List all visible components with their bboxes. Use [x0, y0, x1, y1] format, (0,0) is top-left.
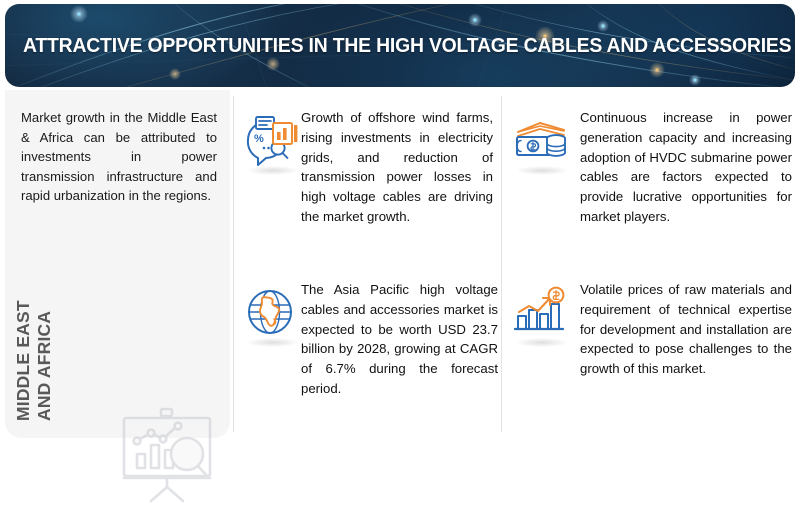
left-region-panel: Market growth in the Middle East & Afric… — [5, 90, 230, 438]
icon-shadow — [516, 338, 568, 347]
left-panel-paragraph: Market growth in the Middle East & Afric… — [21, 108, 217, 206]
column-divider-right — [501, 96, 502, 432]
insight-block-text: The Asia Pacific high voltage cables and… — [301, 280, 498, 399]
cash-coins-money-icon — [512, 112, 570, 170]
infographic-root: ATTRACTIVE OPPORTUNITIES IN THE HIGH VOL… — [0, 0, 800, 441]
svg-text:%: % — [254, 133, 264, 145]
header-banner: ATTRACTIVE OPPORTUNITIES IN THE HIGH VOL… — [5, 4, 795, 87]
analytics-percent-bars-icon: % — [243, 112, 301, 170]
column-divider-left — [233, 96, 234, 432]
bar-chart-growth-dollar-icon — [512, 284, 570, 342]
icon-shadow — [247, 166, 299, 175]
icon-shadow — [516, 166, 568, 175]
insight-block-text: Growth of offshore wind farms, rising in… — [301, 108, 493, 227]
insight-block-text: Continuous increase in power generation … — [580, 108, 792, 227]
icon-shadow — [247, 338, 299, 347]
insight-block-text: Volatile prices of raw materials and req… — [580, 280, 792, 379]
page-title: ATTRACTIVE OPPORTUNITIES IN THE HIGH VOL… — [23, 4, 741, 87]
globe-africa-icon — [243, 284, 301, 342]
presentation-chart-magnifier-icon — [113, 402, 217, 506]
region-label: MIDDLE EAST AND AFRICA — [13, 271, 55, 421]
